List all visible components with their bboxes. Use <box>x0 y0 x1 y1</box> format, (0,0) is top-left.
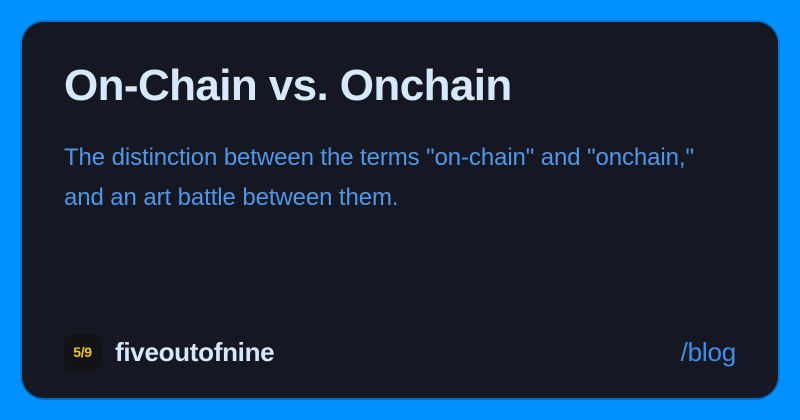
brand[interactable]: 5/9 fiveoutofnine <box>64 334 274 371</box>
page-description: The distinction between the terms "on-ch… <box>64 138 724 217</box>
content-card: On-Chain vs. Onchain The distinction bet… <box>22 22 778 398</box>
card-inner: On-Chain vs. Onchain The distinction bet… <box>64 22 736 398</box>
brand-logo-badge: 5/9 <box>64 334 101 371</box>
brand-badge-label: 5/9 <box>73 345 92 359</box>
card-footer: 5/9 fiveoutofnine /blog <box>64 332 736 372</box>
brand-name: fiveoutofnine <box>115 339 274 365</box>
route-link[interactable]: /blog <box>681 339 736 365</box>
page-title: On-Chain vs. Onchain <box>64 62 512 110</box>
og-image-canvas: On-Chain vs. Onchain The distinction bet… <box>0 0 800 420</box>
